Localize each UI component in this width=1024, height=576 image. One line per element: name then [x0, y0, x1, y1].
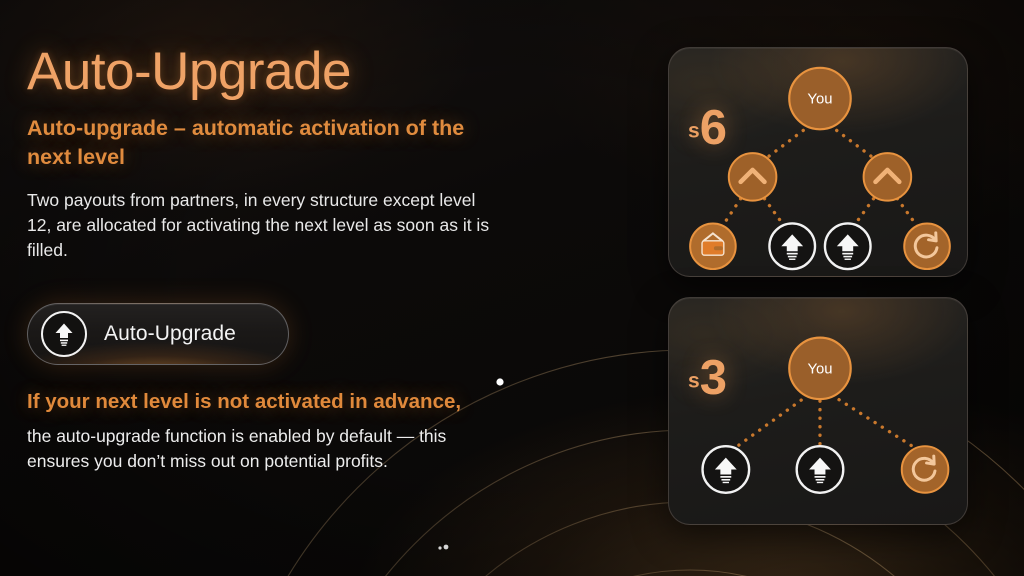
structure-tree-s6: You — [669, 48, 967, 276]
alert-body-text: the auto-upgrade function is enabled by … — [27, 424, 497, 474]
leaf-node-wallet[interactable] — [690, 223, 736, 269]
leaf-node-upgrade-2[interactable] — [797, 446, 844, 493]
text-column: Auto-Upgrade Auto-upgrade – automatic ac… — [27, 44, 637, 263]
leaf-node-upgrade-2[interactable] — [825, 223, 871, 269]
structure-card-s6[interactable]: s6 You — [668, 47, 968, 277]
root-node-label: You — [807, 361, 832, 377]
structure-tree-s3: You — [669, 298, 967, 524]
page-title: Auto-Upgrade — [27, 44, 637, 100]
leaf-node-upgrade-1[interactable] — [769, 223, 815, 269]
auto-upgrade-button-wrap: Auto-Upgrade — [27, 303, 289, 365]
root-node-you[interactable]: You — [789, 338, 850, 399]
root-node-you[interactable]: You — [789, 68, 850, 129]
auto-upgrade-button[interactable]: Auto-Upgrade — [27, 303, 289, 365]
mid-node-right[interactable] — [864, 153, 912, 201]
leaf-node-recycle[interactable] — [904, 223, 950, 269]
auto-upgrade-button-label: Auto-Upgrade — [104, 322, 236, 346]
leaf-node-upgrade-1[interactable] — [703, 446, 750, 493]
alert-heading: If your next level is not activated in a… — [27, 390, 461, 414]
up-arrow-glyph — [53, 322, 75, 346]
mid-node-left[interactable] — [729, 153, 777, 201]
structure-card-s3[interactable]: s3 You — [668, 297, 968, 525]
root-node-label: You — [807, 92, 832, 108]
connector — [832, 395, 913, 447]
page-subtitle: Auto-upgrade – automatic activation of t… — [27, 114, 477, 171]
page-body-text: Two payouts from partners, in every stru… — [27, 188, 497, 263]
leaf-node-recycle[interactable] — [902, 446, 949, 493]
connector — [737, 395, 808, 447]
up-arrow-icon — [41, 311, 87, 357]
tree-connectors — [737, 395, 913, 449]
slide-root: Auto-Upgrade Auto-upgrade – automatic ac… — [0, 0, 1024, 576]
